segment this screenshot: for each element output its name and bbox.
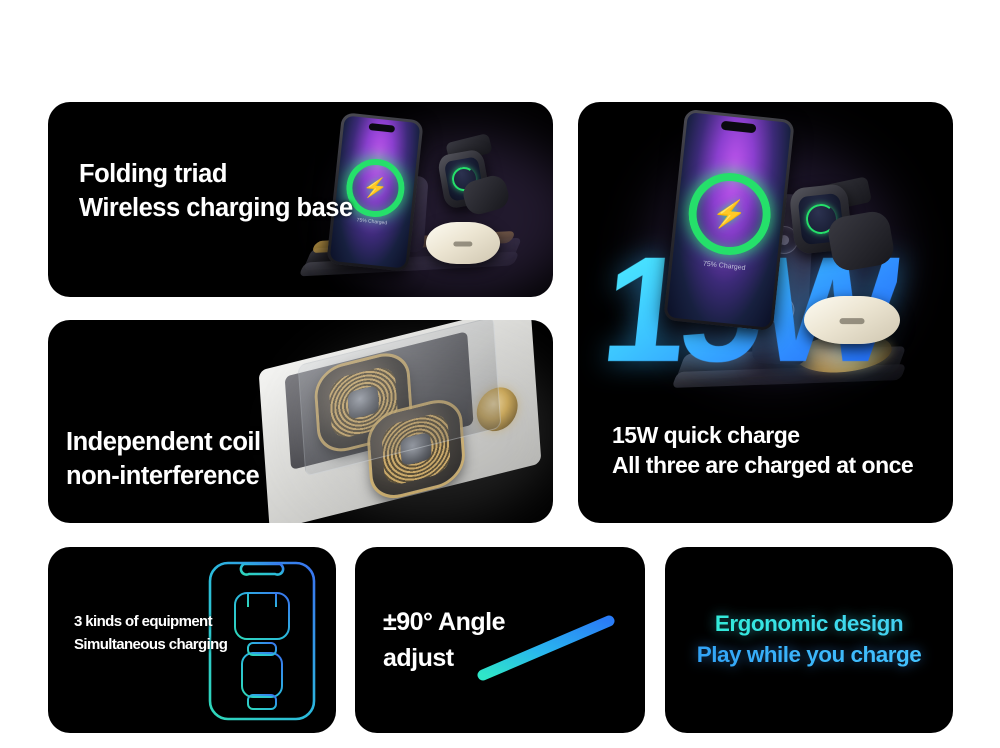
panel-angle-caption: ±90° Angle adjust [383, 604, 505, 677]
earbuds-case [804, 296, 900, 344]
panel-coil-caption: Independent coil non-interference [66, 426, 261, 493]
caption-line-1: ±90° Angle [383, 604, 505, 640]
caption-line-2: Wireless charging base [79, 192, 353, 226]
coil-transparent-cover [298, 320, 502, 477]
phone-charge-label: 75% Charged [356, 217, 387, 226]
caption-line-1: Independent coil [66, 426, 261, 460]
panel-three-kinds-caption: 3 kinds of equipment Simultaneous chargi… [74, 610, 227, 657]
phone-notch [369, 123, 395, 133]
caption-line-1: 3 kinds of equipment [74, 610, 227, 633]
charge-bolt-icon: ⚡ [711, 196, 749, 232]
panel-15w-quick-charge: 15W ⚡ 75% Charged [578, 102, 953, 523]
earbuds-case-slot [840, 318, 865, 324]
panel-angle-adjust: ±90° Angle adjust [355, 547, 645, 733]
panel-ergonomic-caption: Ergonomic design Play while you charge [665, 609, 953, 670]
caption-line-2: All three are charged at once [612, 450, 913, 480]
panel-folding-triad: ⚡ 75% Charged Folding triad Wireless cha… [48, 102, 553, 297]
panel-ergonomic-design: Ergonomic design Play while you charge [665, 547, 953, 733]
caption-line-2: Play while you charge [665, 640, 953, 671]
panel-15w-caption: 15W quick charge All three are charged a… [612, 420, 913, 481]
caption-line-2: Simultaneous charging [74, 633, 227, 656]
earbuds-case [426, 222, 500, 264]
earbuds-case-slot [453, 241, 472, 246]
phone-charge-label: 75% Charged [702, 261, 745, 272]
phone-notch [721, 121, 757, 134]
phone-screen: ⚡ 75% Charged [667, 112, 792, 328]
caption-line-1: 15W quick charge [612, 420, 913, 450]
panel-three-kinds: 3 kinds of equipment Simultaneous chargi… [48, 547, 336, 733]
watch-outline-icon [242, 643, 282, 709]
coil-board [259, 320, 542, 523]
panel-independent-coil: Independent coil non-interference [48, 320, 553, 523]
phone-device: ⚡ 75% Charged [663, 109, 795, 331]
caption-line-1: Ergonomic design [665, 609, 953, 640]
infographic-canvas: ⚡ 75% Charged Folding triad Wireless cha… [0, 0, 1000, 748]
caption-line-2: non-interference [66, 460, 261, 494]
panel-folding-caption: Folding triad Wireless charging base [79, 158, 353, 225]
caption-line-1: Folding triad [79, 158, 353, 192]
charge-bolt-icon: ⚡ [362, 174, 389, 201]
caption-line-2: adjust [383, 640, 505, 676]
